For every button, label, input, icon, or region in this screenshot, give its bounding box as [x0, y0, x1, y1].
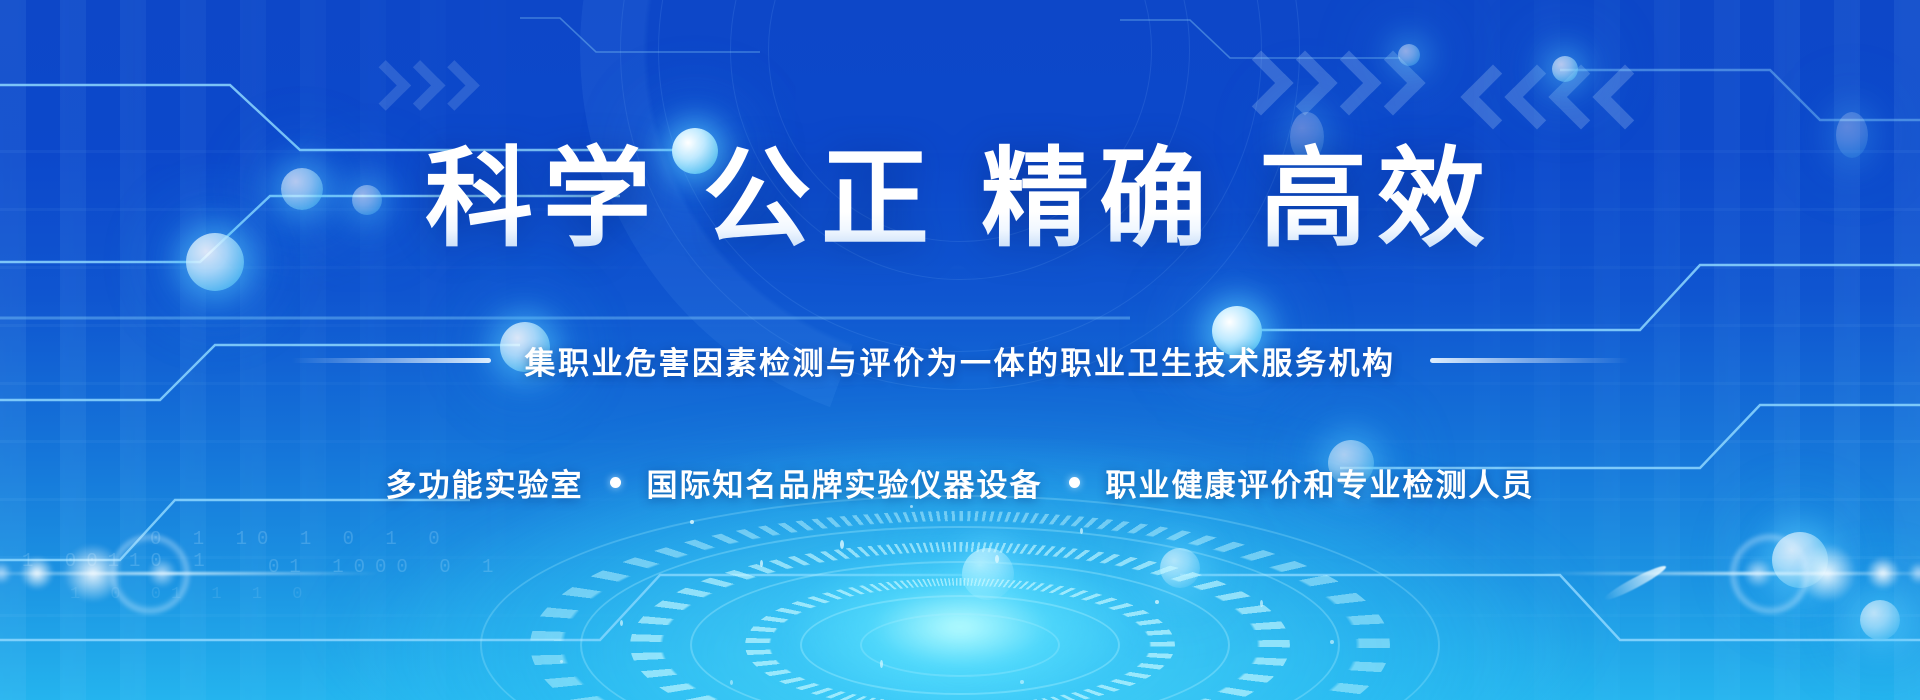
headline-word-2: 公正 — [703, 138, 939, 259]
headline-word-4: 高效 — [1259, 138, 1495, 259]
tagline-3: 职业健康评价和专业检测人员 — [1106, 460, 1535, 505]
headline-word-1: 科学 — [425, 138, 661, 259]
hero-banner: 1 00110 1 0 1 10 1 0 1 0 01 1000 0 1 1 0… — [0, 0, 1920, 700]
bullet-separator-icon — [1069, 477, 1080, 488]
banner-subtitle-row: 集职业危害因素检测与评价为一体的职业卫生技术服务机构 — [0, 338, 1920, 383]
banner-headline: 科学公正精确高效 — [0, 142, 1920, 255]
bullet-separator-icon — [610, 477, 621, 488]
tagline-1: 多功能实验室 — [386, 460, 584, 505]
banner-subtitle: 集职业危害因素检测与评价为一体的职业卫生技术服务机构 — [525, 338, 1396, 383]
subtitle-rule-left — [291, 358, 491, 363]
headline-word-3: 精确 — [981, 138, 1217, 259]
banner-taglines: 多功能实验室 国际知名品牌实验仪器设备 职业健康评价和专业检测人员 — [0, 460, 1920, 505]
banner-content: 科学公正精确高效 集职业危害因素检测与评价为一体的职业卫生技术服务机构 多功能实… — [0, 0, 1920, 700]
subtitle-rule-right — [1430, 358, 1630, 363]
tagline-2: 国际知名品牌实验仪器设备 — [647, 460, 1043, 505]
